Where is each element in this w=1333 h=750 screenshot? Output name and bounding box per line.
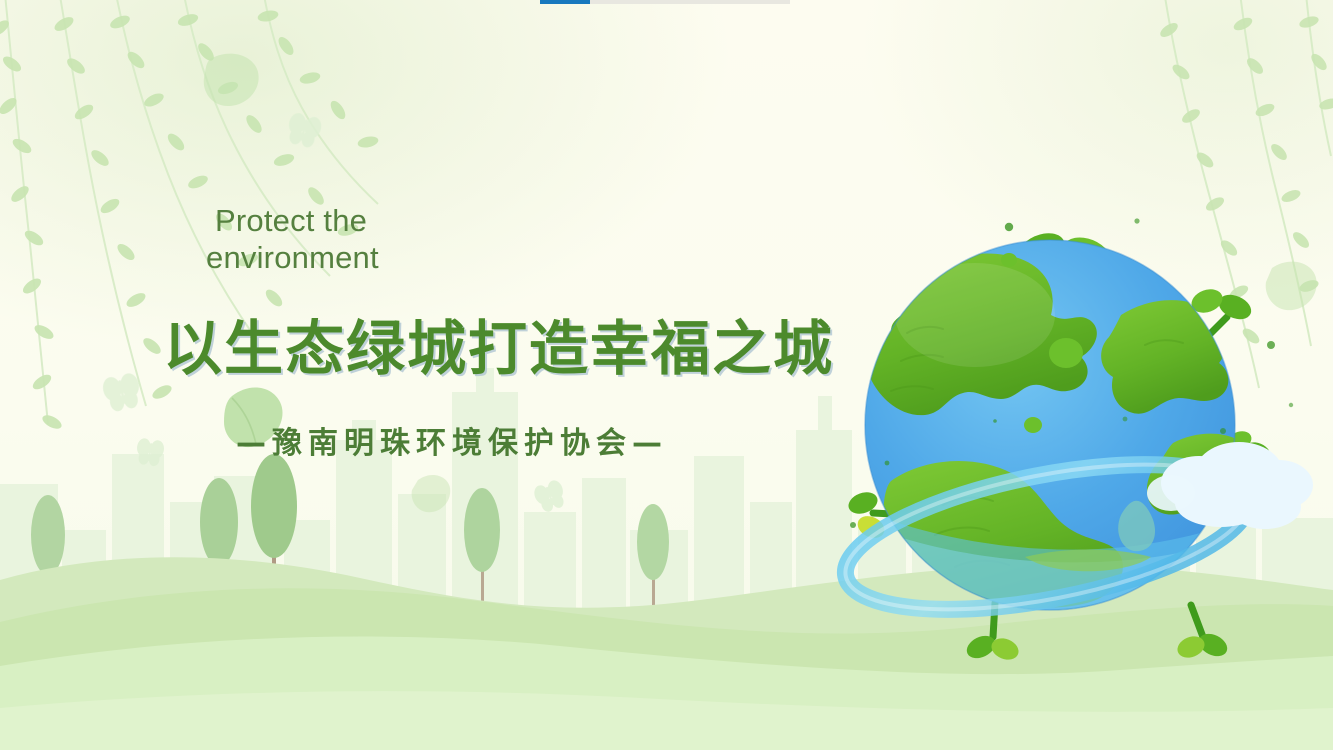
english-tagline-line2: environment (206, 242, 803, 273)
progress-bar-fill (540, 0, 590, 4)
progress-bar-track[interactable] (540, 0, 790, 4)
presentation-slide: Protect the environment 以生态绿城打造幸福之城 —豫南明… (0, 0, 1333, 750)
subtitle: —豫南明珠环境保护协会— (236, 418, 803, 462)
earth-globe-illustration (795, 185, 1325, 685)
page-title: 以生态绿城打造幸福之城 (163, 301, 803, 386)
title-group: Protect the environment 以生态绿城打造幸福之城 —豫南明… (163, 205, 803, 462)
english-tagline-line1: Protect the (215, 205, 803, 236)
